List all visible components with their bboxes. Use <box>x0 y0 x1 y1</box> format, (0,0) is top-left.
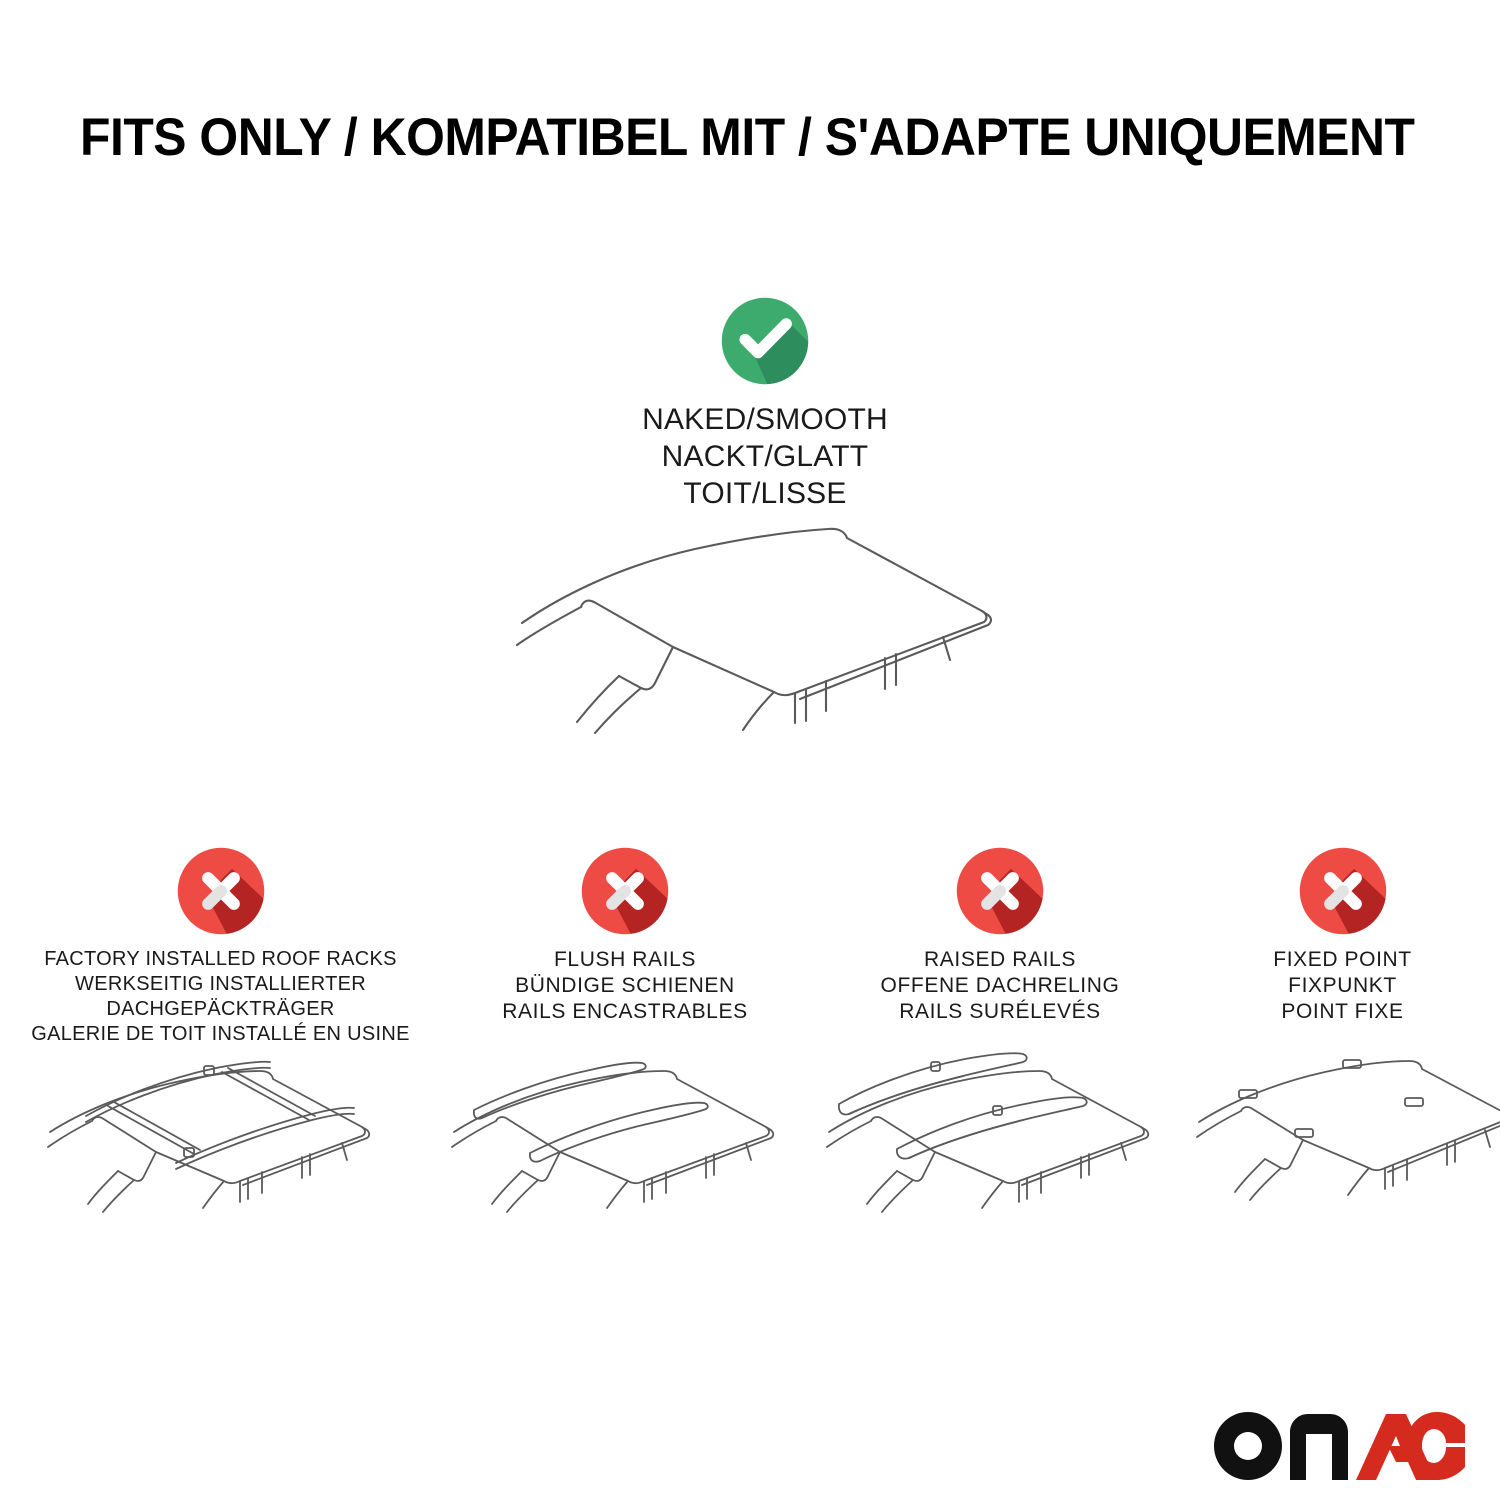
compatible-labels: NAKED/SMOOTH NACKT/GLATT TOIT/LISSE <box>555 401 975 512</box>
car-roof-flush-rails-illustration <box>430 1050 820 1280</box>
compatible-label-de: NACKT/GLATT <box>555 438 975 475</box>
incompatible-group-fixed-point: FIXED POINT FIXPUNKT POINT FIXE <box>1185 845 1500 1025</box>
car-roof-raised-rails-art <box>805 1050 1195 1280</box>
incompatible-labels-raised-rails: RAISED RAILS OFFENE DACHRELING RAILS SUR… <box>805 947 1195 1025</box>
compatible-group: NAKED/SMOOTH NACKT/GLATT TOIT/LISSE <box>555 295 975 512</box>
page-title: FITS ONLY / KOMPATIBEL MIT / S'ADAPTE UN… <box>80 108 1358 168</box>
omac-logo-mark <box>1210 1406 1465 1482</box>
compatible-label-en: NAKED/SMOOTH <box>555 401 975 438</box>
omac-logo <box>1210 1406 1465 1482</box>
incompatible-group-flush-rails: FLUSH RAILS BÜNDIGE SCHIENEN RAILS ENCAS… <box>430 845 820 1025</box>
label-line-2: WERKSEITIG INSTALLIERTER <box>13 972 428 997</box>
incompatible-labels-flush-rails: FLUSH RAILS BÜNDIGE SCHIENEN RAILS ENCAS… <box>430 947 820 1025</box>
label-line-3: RAILS ENCASTRABLES <box>430 999 820 1025</box>
label-line-1: RAISED RAILS <box>805 947 1195 973</box>
car-roof-naked-smooth-illustration <box>495 515 1035 805</box>
label-line-2: OFFENE DACHRELING <box>805 973 1195 999</box>
car-roof-fixed-point-illustration <box>1185 1050 1500 1280</box>
x-circle-icon <box>579 845 671 937</box>
label-line-4: GALERIE DE TOIT INSTALLÉ EN USINE <box>13 1022 428 1047</box>
incompatible-labels-factory-rack: FACTORY INSTALLED ROOF RACKS WERKSEITIG … <box>13 947 428 1047</box>
incompatible-labels-fixed-point: FIXED POINT FIXPUNKT POINT FIXE <box>1185 947 1500 1025</box>
car-roof-fixed-point-art <box>1185 1050 1500 1280</box>
label-line-2: BÜNDIGE SCHIENEN <box>430 973 820 999</box>
car-roof-raised-rails-illustration <box>805 1050 1195 1280</box>
label-line-3: DACHGEPÄCKTRÄGER <box>13 997 428 1022</box>
incompatible-row: FACTORY INSTALLED ROOF RACKS WERKSEITIG … <box>0 845 1500 1485</box>
incompatible-group-raised-rails: RAISED RAILS OFFENE DACHRELING RAILS SUR… <box>805 845 1195 1025</box>
label-line-2: FIXPUNKT <box>1185 973 1500 999</box>
x-circle-icon <box>175 845 267 937</box>
incompatible-group-factory-rack: FACTORY INSTALLED ROOF RACKS WERKSEITIG … <box>13 845 428 1047</box>
label-line-1: FIXED POINT <box>1185 947 1500 973</box>
car-roof-naked-smooth-art <box>495 515 1035 805</box>
car-roof-factory-rack-art <box>26 1050 416 1280</box>
label-line-3: RAILS SURÉLEVÉS <box>805 999 1195 1025</box>
compatible-label-fr: TOIT/LISSE <box>555 475 975 512</box>
label-line-3: POINT FIXE <box>1185 999 1500 1025</box>
label-line-1: FLUSH RAILS <box>430 947 820 973</box>
label-line-1: FACTORY INSTALLED ROOF RACKS <box>13 947 428 972</box>
check-circle-icon <box>719 295 811 387</box>
car-roof-flush-rails-art <box>430 1050 820 1280</box>
car-roof-factory-rack-illustration <box>13 1050 428 1280</box>
x-circle-icon <box>954 845 1046 937</box>
x-circle-icon <box>1297 845 1389 937</box>
